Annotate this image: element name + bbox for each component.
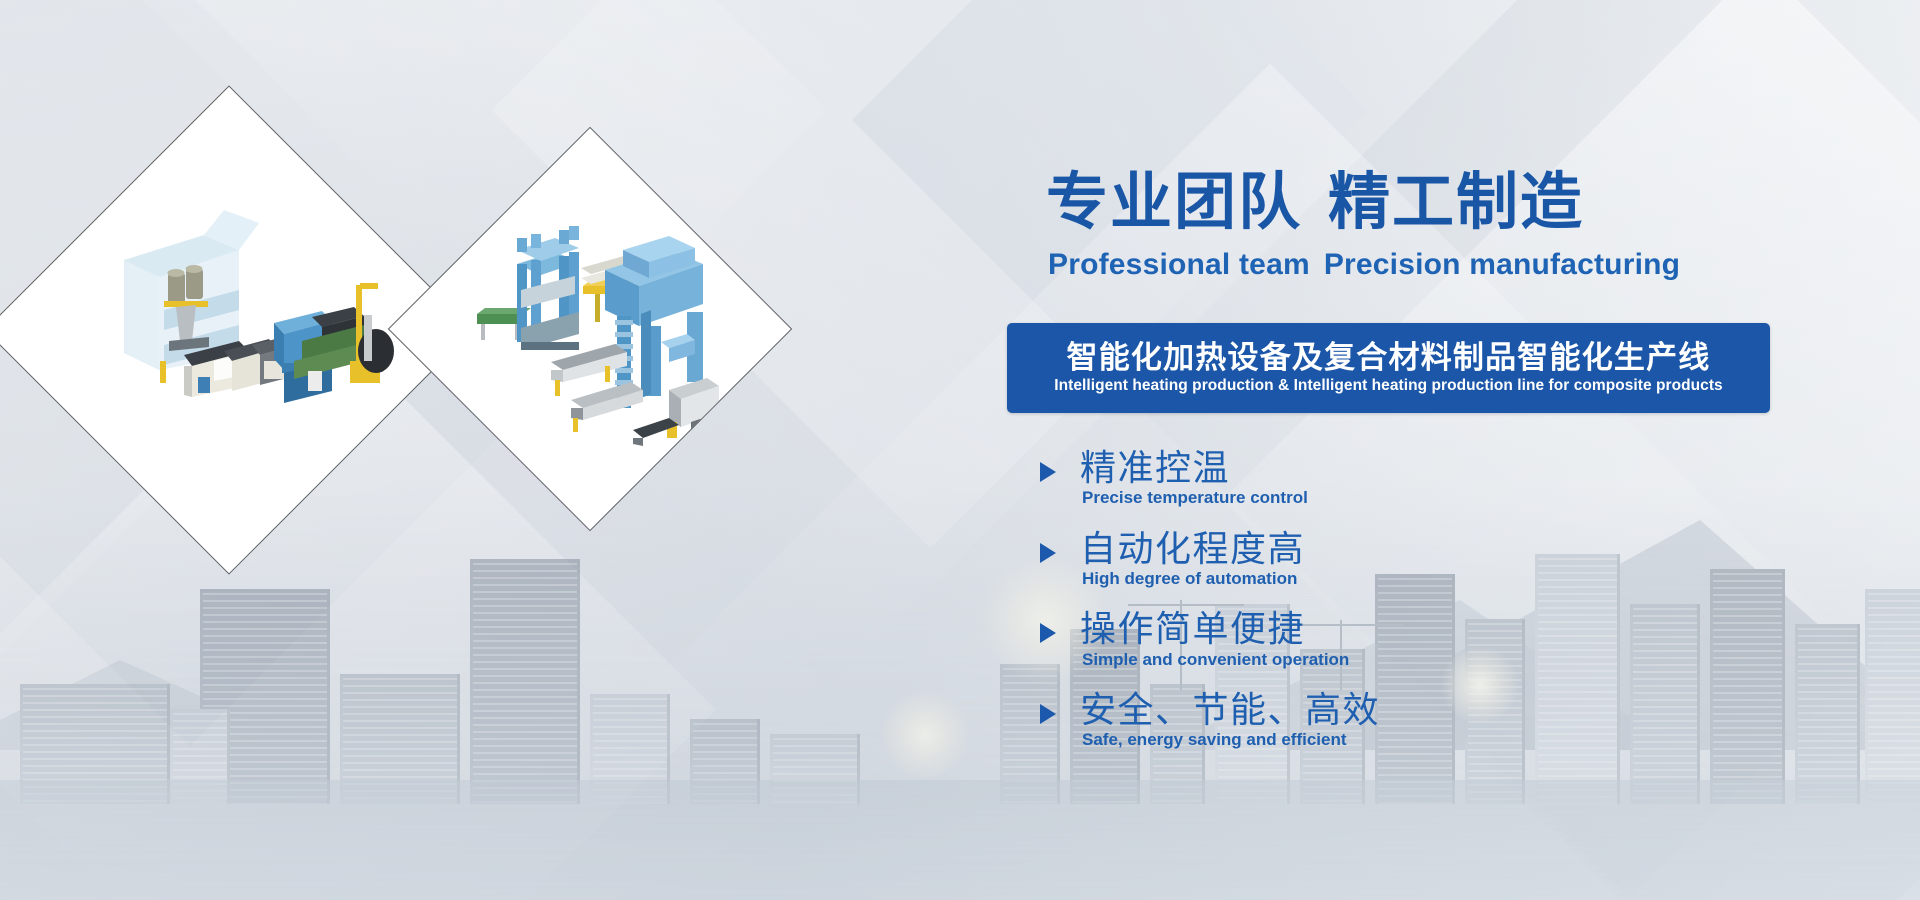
building [1710, 569, 1785, 804]
headline-en-part2: Precision manufacturing [1324, 248, 1680, 281]
product-title-chinese: 智能化加热设备及复合材料制品智能化生产线 [1067, 341, 1711, 376]
triangle-right-icon [1040, 543, 1056, 563]
headline-english: Professional teamPrecision manufacturing [1048, 248, 1680, 282]
product-title-box: 智能化加热设备及复合材料制品智能化生产线 Intelligent heating… [1007, 323, 1770, 413]
feature-item: 操作简单便捷 Simple and convenient operation [1040, 609, 1380, 670]
feature-item: 安全、节能、高效 Safe, energy saving and efficie… [1040, 690, 1380, 751]
building [470, 559, 580, 804]
building [1535, 554, 1620, 804]
feature-label-english: High degree of automation [1082, 569, 1380, 589]
feature-item: 自动化程度高 High degree of automation [1040, 529, 1380, 590]
cityscape-backdrop [0, 480, 1920, 900]
light-flare [1440, 645, 1520, 725]
feature-label-chinese: 精准控温 [1080, 448, 1380, 488]
composite-production-line-render [64, 165, 394, 495]
triangle-right-icon [1040, 462, 1056, 482]
building [1865, 589, 1920, 804]
feature-label-chinese: 操作简单便捷 [1080, 609, 1380, 649]
headline-en-part1: Professional team [1048, 248, 1310, 281]
headline-zh-part2: 精工制造 [1328, 168, 1584, 237]
building [1795, 624, 1860, 804]
feature-label-chinese: 安全、节能、高效 [1080, 690, 1380, 730]
triangle-right-icon [1040, 704, 1056, 724]
waterfront [0, 780, 1920, 900]
hydraulic-press-production-line-render [455, 194, 725, 464]
feature-label-chinese: 自动化程度高 [1080, 529, 1380, 569]
triangle-right-icon [1040, 623, 1056, 643]
building [1630, 604, 1700, 804]
banner-stage: 专业团队精工制造 Professional teamPrecision manu… [0, 0, 1920, 900]
light-flare [880, 690, 970, 780]
feature-label-english: Simple and convenient operation [1082, 650, 1380, 670]
headline-zh-part1: 专业团队 [1046, 168, 1302, 237]
headline-chinese: 专业团队精工制造 [1046, 172, 1584, 234]
feature-list: 精准控温 Precise temperature control 自动化程度高 … [1040, 448, 1380, 771]
product-title-english: Intelligent heating production & Intelli… [1054, 377, 1722, 395]
feature-label-english: Safe, energy saving and efficient [1082, 730, 1380, 750]
feature-label-english: Precise temperature control [1082, 488, 1380, 508]
feature-item: 精准控温 Precise temperature control [1040, 448, 1380, 509]
